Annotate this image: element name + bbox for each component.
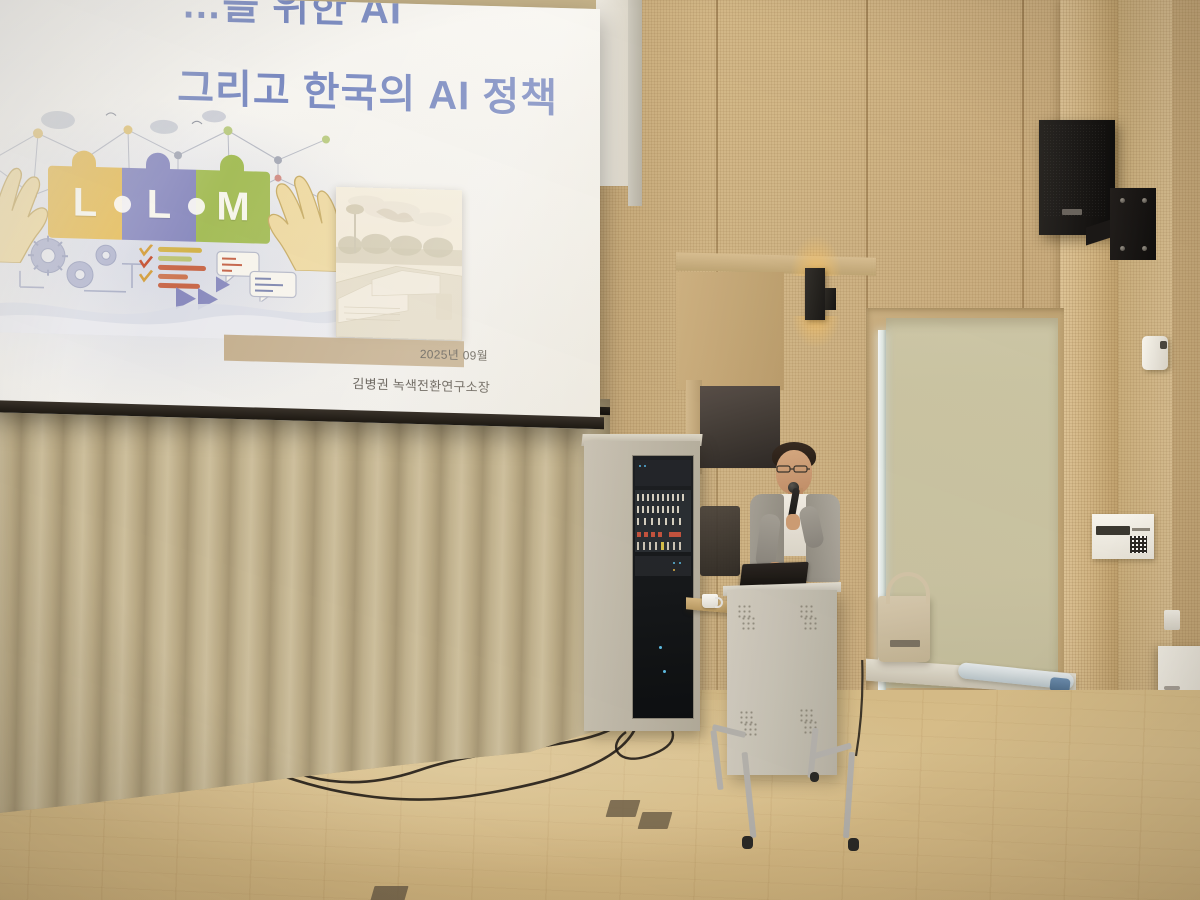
podium-caster bbox=[810, 772, 819, 782]
stacked-chair bbox=[700, 506, 740, 576]
presenter-hand-mic bbox=[786, 514, 800, 530]
rack-led bbox=[644, 465, 646, 467]
loudspeaker-badge bbox=[1062, 209, 1082, 215]
glasses-icon bbox=[776, 465, 811, 473]
tote-bag-label bbox=[890, 640, 920, 647]
stage-curtain bbox=[0, 396, 610, 816]
loudspeaker-bracket bbox=[1110, 188, 1156, 260]
bracket-bolt bbox=[1142, 246, 1147, 251]
podium-vent-holes bbox=[743, 722, 759, 738]
podium-caster bbox=[848, 838, 859, 851]
wall-recess-panel bbox=[676, 272, 784, 390]
rack-led bbox=[679, 562, 681, 564]
podium bbox=[727, 590, 837, 775]
rack-glass-door[interactable] bbox=[632, 455, 694, 719]
data-center-photo bbox=[336, 187, 462, 341]
puzzle-knob bbox=[188, 198, 205, 215]
presentation-slide: …을 위한 AI 그리고 한국의 AI 정책 bbox=[0, 0, 600, 429]
puzzle-piece-m: M bbox=[196, 170, 270, 244]
puzzle-piece-l2: L bbox=[122, 168, 196, 242]
bracket-bolt bbox=[1142, 198, 1147, 203]
ceiling-soffit-left bbox=[596, 0, 632, 186]
puzzle-letter: L bbox=[147, 182, 171, 228]
mixer-controls bbox=[635, 490, 691, 552]
wall-poster-title bbox=[1096, 526, 1130, 535]
puzzle-knob bbox=[114, 196, 131, 213]
podium-vent-holes bbox=[741, 616, 757, 632]
wall-sensor-lens bbox=[1160, 341, 1167, 349]
wall-poster-subtitle bbox=[1132, 528, 1150, 531]
puzzle-letter: M bbox=[216, 184, 249, 230]
bracket-bolt bbox=[1120, 198, 1125, 203]
tote-bag bbox=[878, 596, 930, 662]
qr-code-icon bbox=[1130, 536, 1147, 553]
rack-unit bbox=[635, 460, 691, 486]
wave-decoration bbox=[0, 280, 336, 342]
rack-led bbox=[639, 465, 641, 467]
lecture-hall-photo: …을 위한 AI 그리고 한국의 AI 정책 bbox=[0, 0, 1200, 900]
rack-led bbox=[673, 562, 675, 564]
podium-vent-holes bbox=[803, 616, 819, 632]
coffee-mug bbox=[702, 594, 718, 608]
sconce-uplight-glow bbox=[780, 212, 852, 276]
sconce-downlight-glow bbox=[782, 316, 850, 366]
equipment-rack bbox=[584, 441, 700, 731]
slide-title-line1: …을 위한 AI bbox=[0, 0, 402, 36]
slide-author: 김병권 녹색전환연구소장 bbox=[298, 372, 490, 396]
wall-sconce-icon bbox=[805, 268, 825, 320]
puzzle-letter: L bbox=[73, 180, 97, 226]
llm-puzzle-graphic: L L M bbox=[48, 166, 268, 244]
rack-led bbox=[663, 670, 666, 673]
power-outlet-icon bbox=[1164, 610, 1180, 630]
loudspeaker-grille bbox=[1043, 124, 1107, 216]
podium-caster bbox=[742, 836, 753, 849]
wood-pillar bbox=[1060, 0, 1118, 760]
rack-unit bbox=[635, 556, 691, 576]
rack-led bbox=[673, 569, 675, 571]
bracket-bolt bbox=[1120, 246, 1125, 251]
wall-sconce-arm bbox=[825, 288, 836, 310]
rack-led bbox=[659, 646, 662, 649]
puzzle-piece-l1: L bbox=[48, 166, 122, 240]
projection-screen: …을 위한 AI 그리고 한국의 AI 정책 bbox=[0, 0, 600, 429]
ceiling-soffit-edge bbox=[628, 0, 642, 206]
